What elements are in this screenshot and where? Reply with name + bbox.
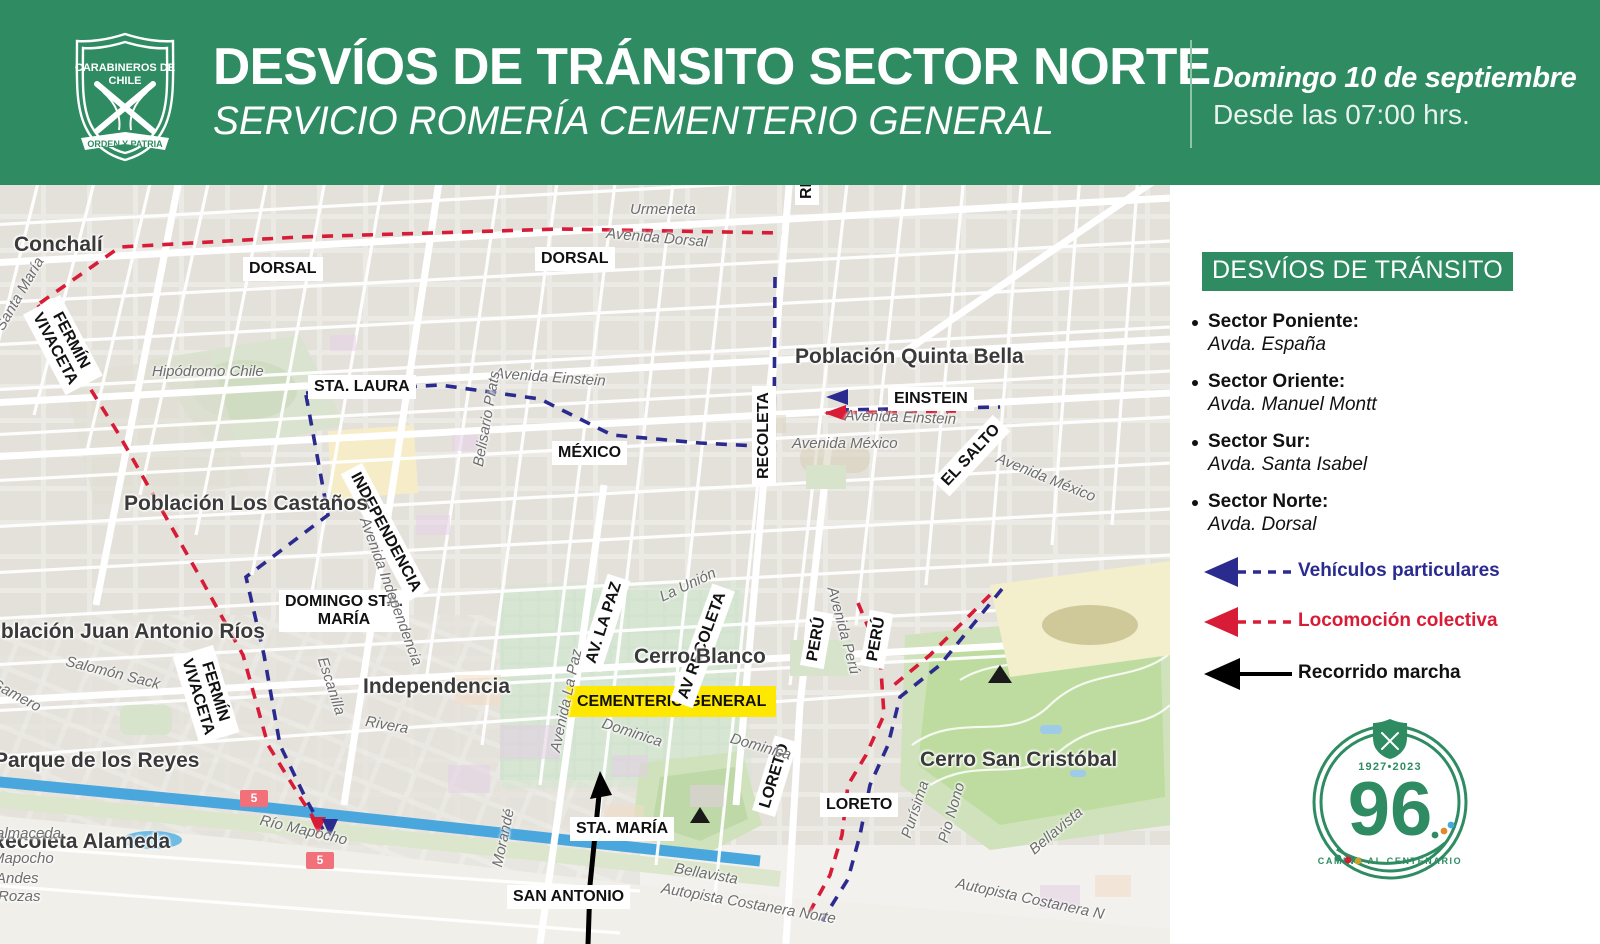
header-divider xyxy=(1190,40,1192,148)
svg-text:ORDEN Y PATRIA: ORDEN Y PATRIA xyxy=(87,139,163,149)
sector-value: Avda. España xyxy=(1208,333,1582,357)
legend-arrow-red-icon xyxy=(1198,605,1294,639)
sector-item-oriente: Sector Oriente: Avda. Manuel Montt xyxy=(1192,370,1582,417)
svg-text:CARABINEROS DE: CARABINEROS DE xyxy=(75,62,175,74)
badge-number: 96 xyxy=(1348,767,1433,852)
date-block: Domingo 10 de septiembre Desde las 07:00… xyxy=(1213,62,1576,131)
header-banner: CARABINEROS DE CHILE ORDEN Y PATRIA DESV… xyxy=(0,0,1600,185)
legend-label: Vehículos particulares xyxy=(1298,560,1500,582)
legend-row-locomocion: Locomoción colectiva xyxy=(1198,605,1294,639)
sector-name: Sector Sur: xyxy=(1208,430,1582,453)
sector-item-sur: Sector Sur: Avda. Santa Isabel xyxy=(1192,430,1582,477)
title-block: DESVÍOS DE TRÁNSITO SECTOR NORTE SERVICI… xyxy=(213,38,1183,144)
legend-row-vehiculos: Vehículos particulares xyxy=(1198,555,1294,589)
map-basemap xyxy=(0,185,1170,944)
anniversary-badge-96: 1927•2023 96 CAMINO AL CENTENARIO xyxy=(1295,707,1485,887)
panel-title: DESVÍOS DE TRÁNSITO xyxy=(1202,252,1513,291)
legend-label: Locomoción colectiva xyxy=(1298,610,1498,632)
cementerio-general-label: CEMENTERIO GENERAL xyxy=(567,686,776,717)
sector-value: Avda. Santa Isabel xyxy=(1208,453,1582,477)
map-canvas[interactable]: CEMENTERIO GENERAL 5 5 DORSALDORSALRECOL… xyxy=(0,185,1170,944)
sector-value: Avda. Dorsal xyxy=(1208,513,1582,537)
sector-item-poniente: Sector Poniente: Avda. España xyxy=(1192,310,1582,357)
sector-name: Sector Norte: xyxy=(1208,490,1582,513)
bullet-icon xyxy=(1192,320,1198,326)
sector-name: Sector Poniente: xyxy=(1208,310,1582,333)
page-title: DESVÍOS DE TRÁNSITO SECTOR NORTE xyxy=(213,38,1173,96)
bullet-icon xyxy=(1192,440,1198,446)
legend-row-marcha: Recorrido marcha xyxy=(1198,657,1294,691)
event-time: Desde las 07:00 hrs. xyxy=(1213,99,1576,131)
sector-value: Avda. Manuel Montt xyxy=(1208,393,1582,417)
legend-arrow-blue-icon xyxy=(1198,555,1294,589)
sector-name: Sector Oriente: xyxy=(1208,370,1582,393)
route-shield-5-b: 5 xyxy=(306,852,334,869)
svg-text:CHILE: CHILE xyxy=(109,75,142,87)
carabineros-shield-logo: CARABINEROS DE CHILE ORDEN Y PATRIA xyxy=(55,26,195,166)
event-date: Domingo 10 de septiembre xyxy=(1213,62,1576,95)
sector-item-norte: Sector Norte: Avda. Dorsal xyxy=(1192,490,1582,537)
legend-arrow-black-icon xyxy=(1198,657,1294,691)
infographic-root: CARABINEROS DE CHILE ORDEN Y PATRIA DESV… xyxy=(0,0,1600,944)
legend-label: Recorrido marcha xyxy=(1298,662,1461,684)
route-shield-5-a: 5 xyxy=(240,790,268,807)
bullet-icon xyxy=(1192,380,1198,386)
bullet-icon xyxy=(1192,500,1198,506)
page-subtitle: SERVICIO ROMERÍA CEMENTERIO GENERAL xyxy=(213,98,1154,144)
